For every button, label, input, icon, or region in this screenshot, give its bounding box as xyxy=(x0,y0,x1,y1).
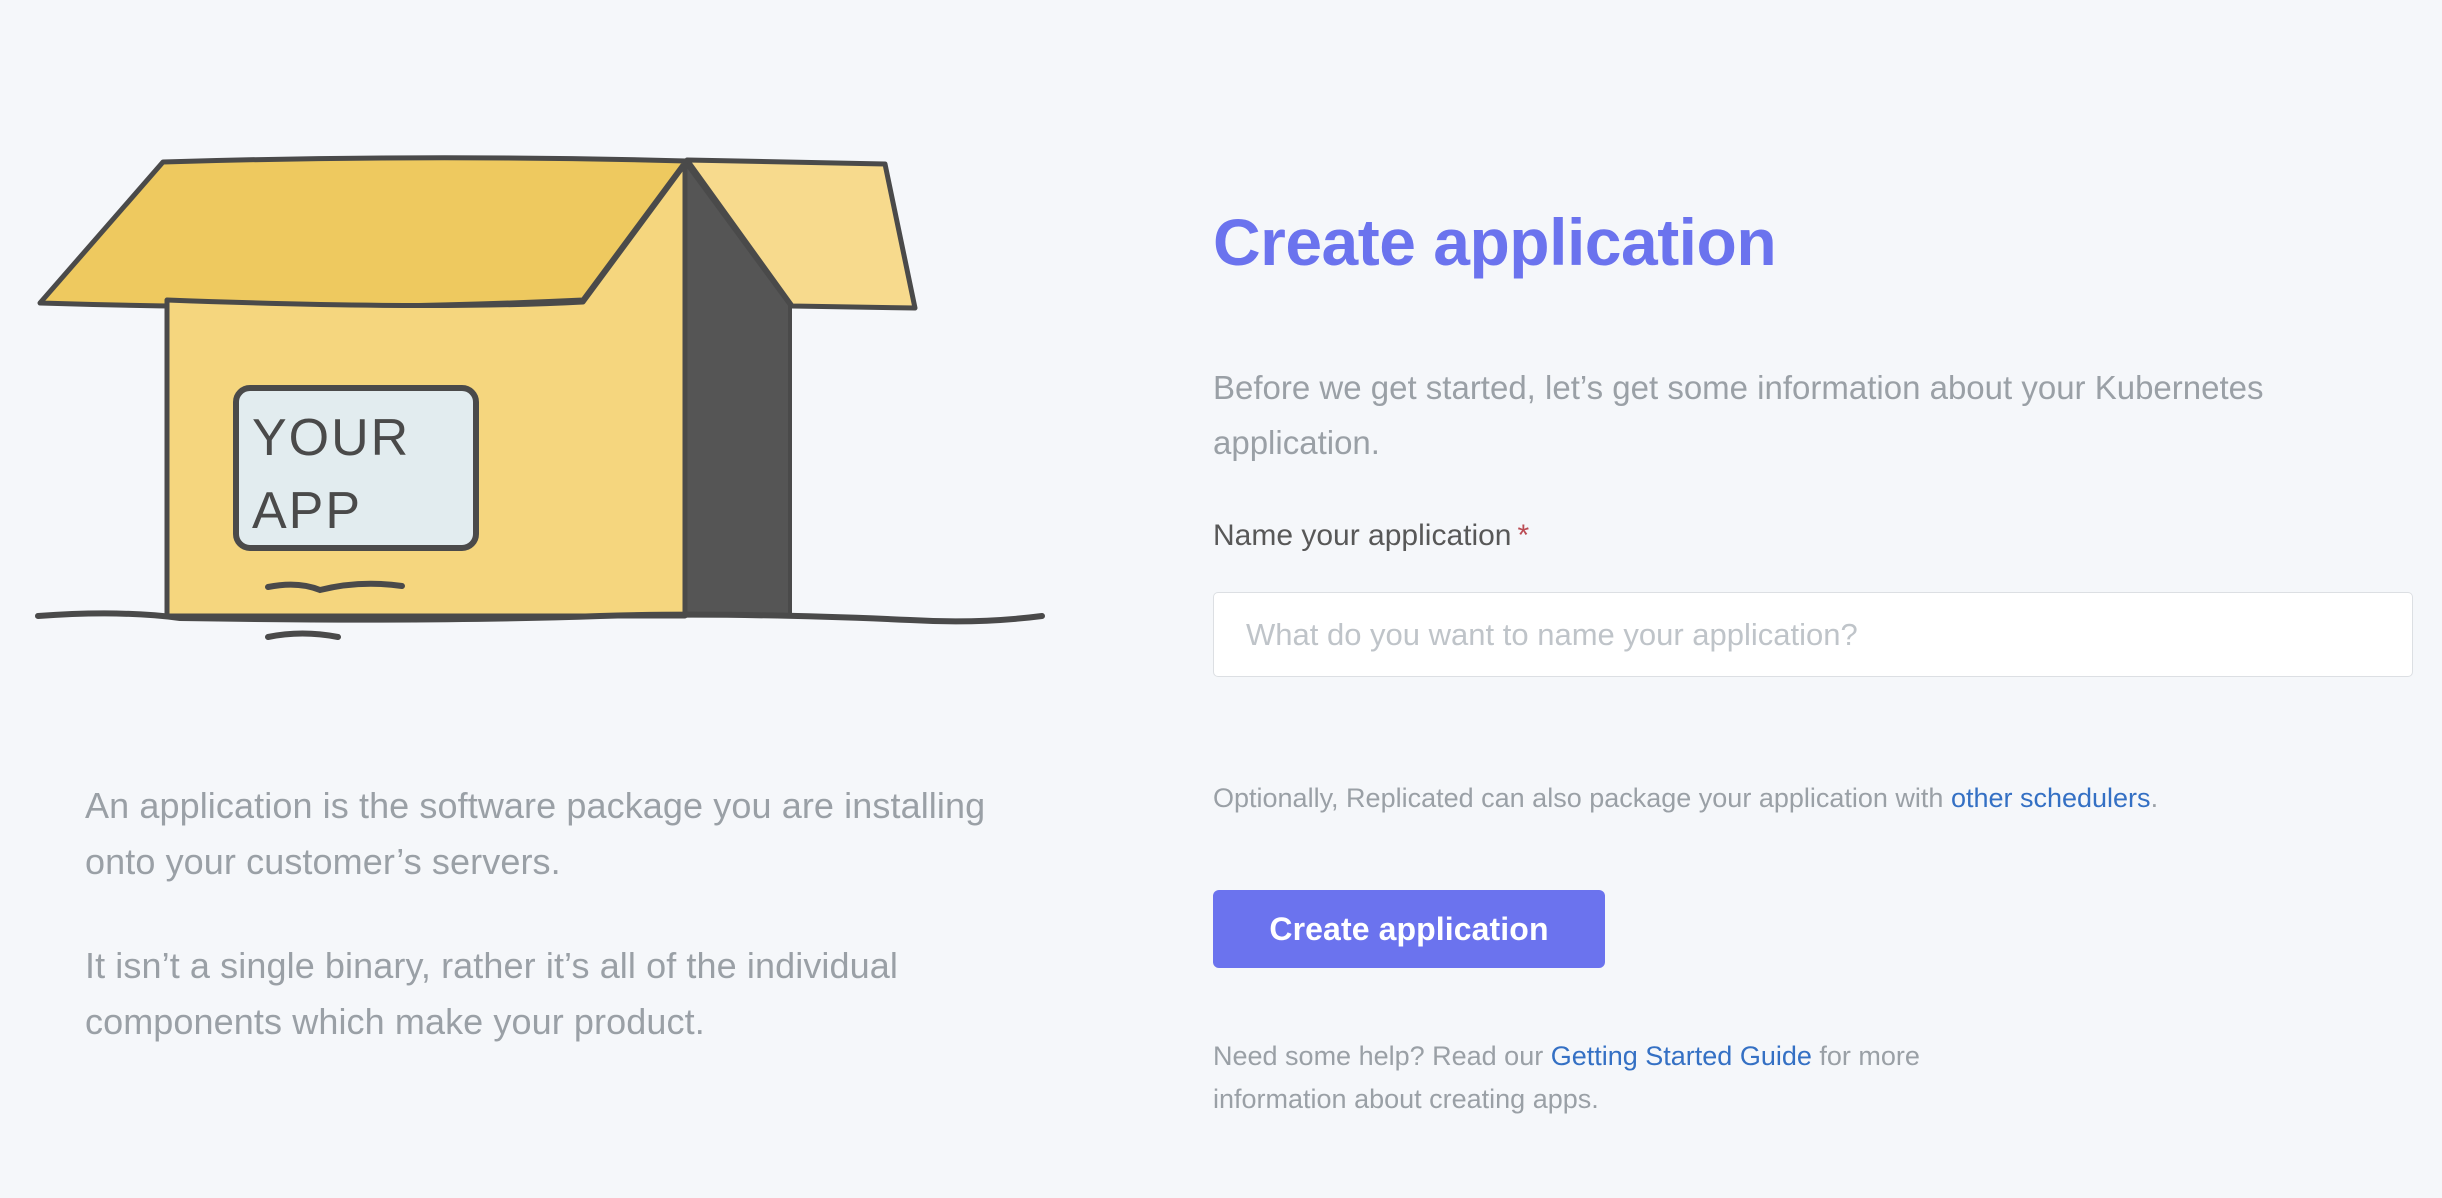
name-field-label: Name your application* xyxy=(1213,518,1529,554)
left-column: YOUR APP An application is the software … xyxy=(0,0,1120,1198)
getting-started-guide-link[interactable]: Getting Started Guide xyxy=(1551,1041,1812,1071)
required-asterisk: * xyxy=(1518,519,1530,552)
left-description: An application is the software package y… xyxy=(85,778,1005,1050)
box-flap-left xyxy=(40,158,686,307)
box-label-line2: APP xyxy=(252,482,362,540)
right-column: Create application Before we get started… xyxy=(1213,0,2442,1198)
optional-schedulers-note: Optionally, Replicated can also package … xyxy=(1213,780,2158,816)
box-label-line1: YOUR xyxy=(252,409,410,467)
description-paragraph-1: An application is the software package y… xyxy=(85,778,1005,890)
page-title: Create application xyxy=(1213,205,1776,279)
cardboard-box-illustration: YOUR APP xyxy=(30,150,1050,750)
description-paragraph-2: It isn’t a single binary, rather it’s al… xyxy=(85,938,1005,1050)
help-note: Need some help? Read our Getting Started… xyxy=(1213,1035,2033,1121)
help-note-prefix: Need some help? Read our xyxy=(1213,1041,1551,1071)
application-name-input[interactable] xyxy=(1213,592,2413,677)
create-application-button[interactable]: Create application xyxy=(1213,890,1605,968)
box-detail-line-2 xyxy=(268,634,338,638)
box-label-sticker: YOUR APP xyxy=(236,388,476,548)
name-field-label-text: Name your application xyxy=(1213,519,1512,552)
create-application-page: YOUR APP An application is the software … xyxy=(0,0,2442,1198)
other-schedulers-link[interactable]: other schedulers xyxy=(1951,783,2151,813)
page-subtitle: Before we get started, let’s get some in… xyxy=(1213,360,2348,470)
optional-note-prefix: Optionally, Replicated can also package … xyxy=(1213,783,1951,813)
optional-note-suffix: . xyxy=(2151,783,2159,813)
